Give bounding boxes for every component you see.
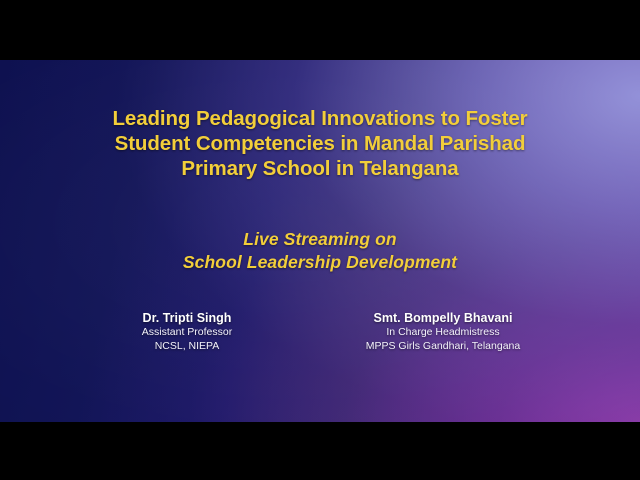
- video-player: Leading Pedagogical Innovations to Foste…: [0, 0, 640, 480]
- speaker-card-2: Smt. Bompelly Bhavani In Charge Headmist…: [318, 310, 568, 353]
- slide-subtitle: Live Streaming on School Leadership Deve…: [0, 228, 640, 273]
- letterbox-top: [0, 0, 640, 60]
- subtitle-line-2: School Leadership Development: [0, 251, 640, 274]
- slide-title: Leading Pedagogical Innovations to Foste…: [0, 106, 640, 181]
- title-line-2: Student Competencies in Mandal Parishad: [0, 131, 640, 156]
- speaker-role: In Charge Headmistress: [318, 326, 568, 340]
- speaker-role: Assistant Professor: [72, 326, 302, 340]
- speaker-list: Dr. Tripti Singh Assistant Professor NCS…: [0, 310, 640, 353]
- presentation-slide: Leading Pedagogical Innovations to Foste…: [0, 60, 640, 422]
- speaker-organization: NCSL, NIEPA: [72, 340, 302, 354]
- slide-content: Leading Pedagogical Innovations to Foste…: [0, 60, 640, 422]
- title-line-1: Leading Pedagogical Innovations to Foste…: [0, 106, 640, 131]
- speaker-name: Smt. Bompelly Bhavani: [318, 310, 568, 326]
- letterbox-bottom: [0, 422, 640, 480]
- title-line-3: Primary School in Telangana: [0, 156, 640, 181]
- speaker-name: Dr. Tripti Singh: [72, 310, 302, 326]
- subtitle-line-1: Live Streaming on: [0, 228, 640, 251]
- speaker-card-1: Dr. Tripti Singh Assistant Professor NCS…: [72, 310, 302, 353]
- speaker-organization: MPPS Girls Gandhari, Telangana: [318, 340, 568, 354]
